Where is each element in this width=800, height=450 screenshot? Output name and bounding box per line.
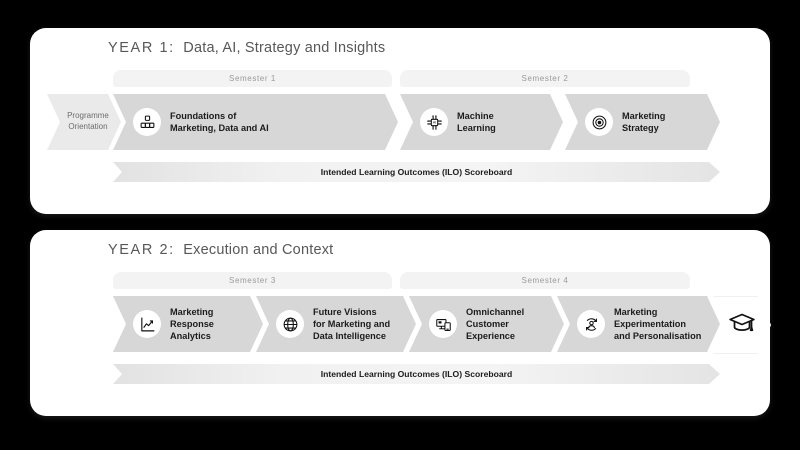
- semester-bar-1-label: Semester 1: [229, 74, 276, 83]
- personalisation-icon: [577, 310, 605, 338]
- year-2-card: YEAR 2: Execution and Context Semester 3…: [30, 230, 770, 416]
- semester-bar-2: Semester 2: [400, 70, 690, 87]
- module-label: Marketing Experimentation and Personalis…: [614, 306, 707, 343]
- module-omnichannel-customer-experience[interactable]: Omnichannel Customer Experience: [409, 296, 564, 352]
- module-marketing-experimentation-and-personalisation[interactable]: Marketing Experimentation and Personalis…: [557, 296, 720, 352]
- semester-bar-3: Semester 3: [113, 272, 392, 289]
- graduation-cap-icon: [727, 308, 757, 343]
- year-1-title-text: Data, AI, Strategy and Insights: [183, 40, 385, 56]
- semester-bar-2-label: Semester 2: [522, 74, 569, 83]
- devices-icon: [429, 310, 457, 338]
- year-1-module-row: Programme Orientation Foundations of Mar…: [30, 94, 770, 150]
- module-label: Marketing Response Analytics: [170, 306, 220, 343]
- module-foundations-of-marketing-data-and-ai[interactable]: Foundations of Marketing, Data and AI: [113, 94, 398, 150]
- year-1-title: YEAR 1: Data, AI, Strategy and Insights: [108, 40, 385, 56]
- year-2-title: YEAR 2: Execution and Context: [108, 242, 333, 258]
- module-label: Omnichannel Customer Experience: [466, 306, 530, 343]
- cubes-icon: [133, 108, 161, 136]
- module-label: Marketing Strategy: [622, 110, 671, 134]
- year-2-module-row: Marketing Response Analytics Future Visi…: [30, 296, 770, 352]
- ilo-scoreboard-year-2[interactable]: Intended Learning Outcomes (ILO) Scorebo…: [113, 364, 720, 384]
- programme-orientation-chevron[interactable]: Programme Orientation: [47, 94, 121, 150]
- module-machine-learning[interactable]: AI Machine Learning: [400, 94, 563, 150]
- module-marketing-strategy[interactable]: Marketing Strategy: [565, 94, 720, 150]
- module-label: Machine Learning: [457, 110, 502, 134]
- line-chart-icon: [133, 310, 161, 338]
- ilo-scoreboard-label: Intended Learning Outcomes (ILO) Scorebo…: [321, 167, 512, 177]
- module-label: Foundations of Marketing, Data and AI: [170, 110, 275, 134]
- semester-bar-3-label: Semester 3: [229, 276, 276, 285]
- semester-bar-4-label: Semester 4: [522, 276, 569, 285]
- year-2-title-prefix: YEAR 2:: [108, 242, 175, 258]
- semester-bar-4: Semester 4: [400, 272, 690, 289]
- globe-icon: [276, 310, 304, 338]
- graduation-milestone-chevron[interactable]: [713, 296, 771, 354]
- ilo-scoreboard-label: Intended Learning Outcomes (ILO) Scorebo…: [321, 369, 512, 379]
- year-2-title-text: Execution and Context: [183, 242, 333, 258]
- year-1-card: YEAR 1: Data, AI, Strategy and Insights …: [30, 28, 770, 214]
- ai-chip-icon: AI: [420, 108, 448, 136]
- semester-bar-1: Semester 1: [113, 70, 392, 87]
- svg-text:AI: AI: [432, 120, 435, 124]
- programme-orientation-label: Programme Orientation: [59, 111, 109, 133]
- target-icon: [585, 108, 613, 136]
- year-1-title-prefix: YEAR 1:: [108, 40, 175, 56]
- module-label: Future Visions for Marketing and Data In…: [313, 306, 396, 343]
- ilo-scoreboard-year-1[interactable]: Intended Learning Outcomes (ILO) Scorebo…: [113, 162, 720, 182]
- programme-roadmap-page: YEAR 1: Data, AI, Strategy and Insights …: [0, 0, 800, 450]
- module-future-visions-for-marketing-and-data-intelligence[interactable]: Future Visions for Marketing and Data In…: [256, 296, 416, 352]
- module-marketing-response-analytics[interactable]: Marketing Response Analytics: [113, 296, 263, 352]
